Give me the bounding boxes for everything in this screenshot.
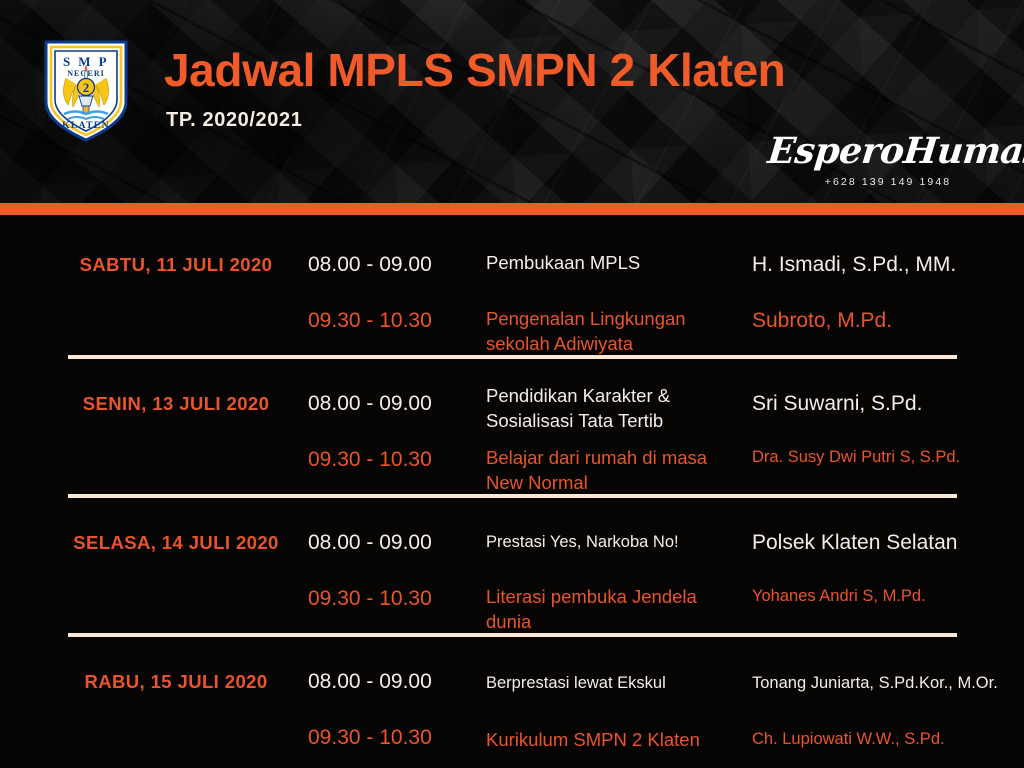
svg-text:2: 2 [83,80,90,95]
brand-phone: +628 139 149 1948 [768,176,1008,188]
schedule-speaker: Dra. Susy Dwi Putri S, S.Pd. [752,446,1014,468]
schedule-table: SABTU, 11 JULI 2020 08.00 - 09.00 09.30 … [0,215,1024,768]
svg-text:KLATEN: KLATEN [62,121,110,131]
schedule-day: SELASA, 14 JULI 2020 [68,529,284,557]
poster-header: S M P NEGERI 2 KLATEN Jadwal MPLS SMPN 2… [0,0,1024,203]
schedule-topic: Pengenalan Lingkungan sekolah Adiwiyata [486,307,736,357]
row-divider [68,633,957,637]
brand-name: EsperoHumas [766,133,1010,169]
table-row: SABTU, 11 JULI 2020 08.00 - 09.00 09.30 … [0,231,1024,370]
schedule-time: 09.30 - 10.30 [308,585,474,613]
schedule-topic: Prestasi Yes, Narkoba No! [486,531,736,553]
schedule-time: 08.00 - 09.00 [308,529,474,557]
schedule-speaker: H. Ismadi, S.Pd., MM. [752,251,1014,279]
row-divider [68,494,957,498]
schedule-day: SENIN, 13 JULI 2020 [68,390,284,418]
schedule-topic: Literasi pembuka Jendela dunia [486,585,736,635]
page-title: Jadwal MPLS SMPN 2 Klaten [164,43,785,97]
mpls-schedule-poster: S M P NEGERI 2 KLATEN Jadwal MPLS SMPN 2… [0,0,1024,768]
shield-icon: S M P NEGERI 2 KLATEN [42,38,130,144]
school-logo: S M P NEGERI 2 KLATEN [42,38,130,144]
table-row: RABU, 15 JULI 2020 08.00 - 09.00 09.30 -… [0,648,1024,768]
schedule-topic: Kurikulum SMPN 2 Klaten [486,728,736,753]
brand-block: EsperoHumas +628 139 149 1948 [768,133,1008,188]
schedule-speaker: Subroto, M.Pd. [752,307,1014,335]
schedule-speaker: Ch. Lupiowati W.W., S.Pd. [752,728,1014,750]
schedule-topic: Belajar dari rumah di masa New Normal [486,446,736,496]
schedule-topic: Pembukaan MPLS [486,251,736,276]
table-row: SELASA, 14 JULI 2020 08.00 - 09.00 09.30… [0,509,1024,648]
schedule-speaker: Sri Suwarni, S.Pd. [752,390,1014,418]
schedule-time: 09.30 - 10.30 [308,446,474,474]
schedule-topic: Pendidikan Karakter & Sosialisasi Tata T… [486,384,736,434]
schedule-speaker: Yohanes Andri S, M.Pd. [752,585,1014,607]
schedule-time: 08.00 - 09.00 [308,390,474,418]
schedule-speaker: Polsek Klaten Selatan [752,529,1014,557]
schedule-topic: Berprestasi lewat Ekskul [486,672,736,694]
schedule-time: 09.30 - 10.30 [308,307,474,335]
schedule-time: 08.00 - 09.00 [308,251,474,279]
row-divider [68,355,957,359]
schedule-time: 08.00 - 09.00 [308,668,474,696]
schedule-time: 09.30 - 10.30 [308,724,474,752]
schedule-day: RABU, 15 JULI 2020 [68,668,284,696]
schedule-day: SABTU, 11 JULI 2020 [68,251,284,279]
header-accent-bar [0,203,1024,215]
page-subtitle: TP. 2020/2021 [166,109,302,132]
schedule-speaker: Tonang Juniarta, S.Pd.Kor., M.Or. [752,672,1014,694]
table-row: SENIN, 13 JULI 2020 08.00 - 09.00 09.30 … [0,370,1024,509]
